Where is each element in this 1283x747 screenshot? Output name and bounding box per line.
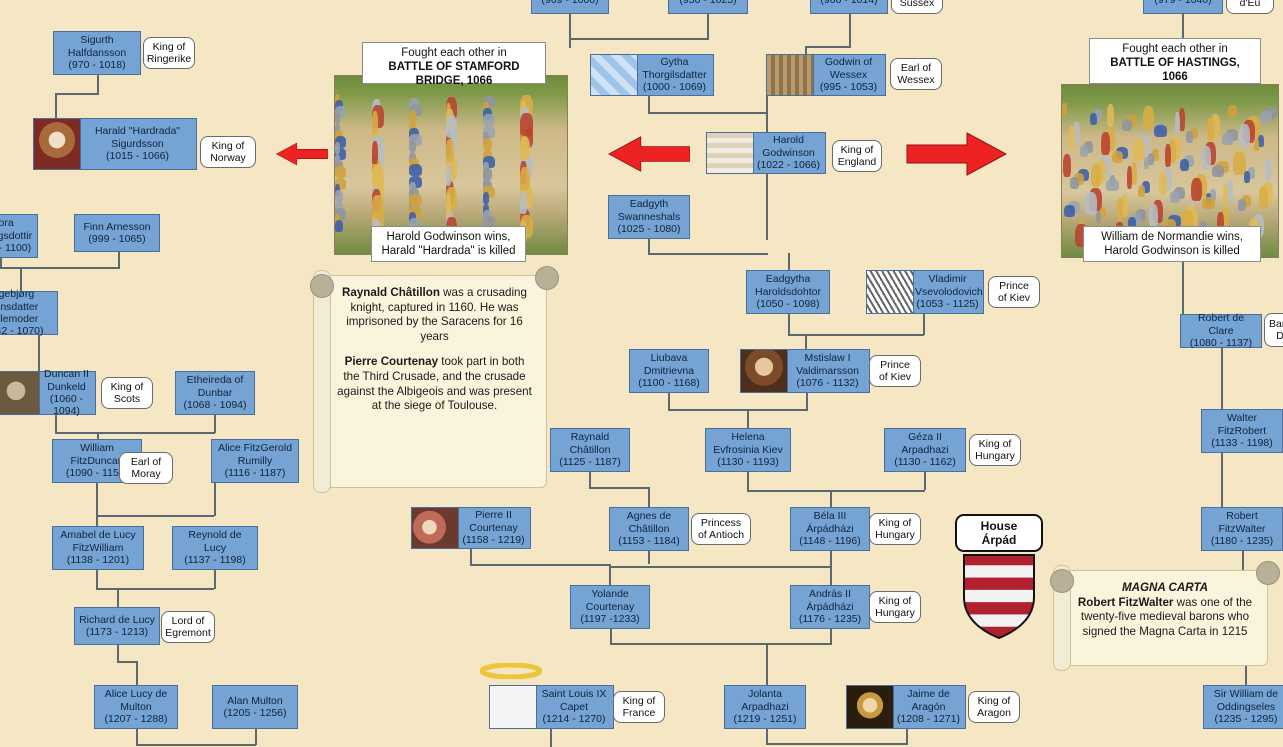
- person-name-sigurth: Sigurth Halfdansson (970 - 1018): [68, 34, 126, 71]
- portrait-mstislaw: [741, 350, 788, 392]
- connector-line: [707, 14, 709, 38]
- scroll-curl-top-left: [310, 274, 334, 298]
- portrait-louis9: [490, 686, 537, 728]
- person-box-helena[interactable]: Helena Evfrosinia Kiev (1130 - 1193): [705, 428, 791, 472]
- connector-line: [648, 239, 650, 253]
- person-name-harold: Harold Godwinson (1022 - 1066): [755, 134, 822, 171]
- title-pill-t_hungary3[interactable]: King of Hungary: [869, 591, 921, 623]
- connector-line: [830, 551, 832, 566]
- connector-line: [648, 551, 650, 564]
- connector-line: [136, 744, 256, 746]
- note-heading-magna-carta-note: MAGNA CARTA: [1077, 581, 1253, 596]
- connector-line: [589, 472, 591, 487]
- connector-line: [118, 252, 120, 268]
- person-name-alanmulton: Alan Multon (1205 - 1256): [223, 695, 286, 720]
- connector-line: [550, 729, 552, 747]
- connector-line: [214, 483, 216, 516]
- title-pill-t_deu[interactable]: d'Eu: [1226, 0, 1274, 14]
- person-box-eadgyth[interactable]: Eadgyth Swanneshals (1025 - 1080): [608, 195, 690, 239]
- person-box-p_950[interactable]: (950 - 1025): [668, 0, 748, 14]
- title-pill-t_arpad[interactable]: House Árpád: [955, 514, 1043, 552]
- connector-line: [830, 629, 832, 643]
- note-paragraph: Robert FitzWalter was one of the twenty-…: [1077, 596, 1253, 640]
- person-box-alicelucy[interactable]: Alice Lucy de Multon (1207 - 1288): [94, 685, 178, 729]
- person-box-andras2[interactable]: András II Árpádházi (1176 - 1235): [790, 585, 870, 629]
- person-name-p_960: (960 - 1014): [820, 0, 877, 6]
- person-box-p_979[interactable]: (979 - 1040): [1143, 0, 1223, 14]
- person-name-eadgytha: Eadgytha Haroldsdohtor (1050 - 1098): [755, 273, 821, 310]
- person-box-louis9[interactable]: Saint Louis IX Capet (1214 - 1270): [489, 685, 614, 729]
- portrait-jaime: [847, 686, 894, 728]
- person-box-mstislaw[interactable]: Mstislaw I Valdimarsson (1076 - 1132): [740, 349, 870, 393]
- person-box-harold[interactable]: Harold Godwinson (1022 - 1066): [706, 132, 826, 174]
- connector-line: [1182, 256, 1184, 314]
- connector-line: [648, 96, 650, 112]
- connector-line: [668, 393, 670, 409]
- person-box-bela3[interactable]: Béla III Árpádházi (1148 - 1196): [790, 507, 870, 551]
- title-pill-t_egremont[interactable]: Lord of Egremont: [161, 611, 215, 643]
- connector-line: [470, 564, 610, 566]
- battle-footer-hastings: William de Normandie wins, Harold Godwin…: [1083, 226, 1261, 262]
- connector-line: [589, 487, 649, 489]
- person-box-alanmulton[interactable]: Alan Multon (1205 - 1256): [212, 685, 298, 729]
- person-box-pierre2[interactable]: Pierre II Courtenay (1158 - 1219): [411, 507, 531, 549]
- portrait-godwin: [767, 55, 814, 95]
- connector-line: [766, 743, 908, 745]
- connector-line: [805, 334, 807, 350]
- title-pill-t_wessex[interactable]: Earl of Wessex: [890, 58, 942, 90]
- person-name-richard: Richard de Lucy (1173 - 1213): [79, 614, 155, 639]
- connector-line: [788, 253, 790, 271]
- connector-line: [648, 112, 768, 114]
- battle-header-stamford: Fought each other inBATTLE OF STAMFORD B…: [362, 42, 546, 84]
- arrow-left-icon: [608, 131, 690, 177]
- saint-halo-icon: [480, 663, 542, 679]
- connector-line: [747, 490, 831, 492]
- connector-line: [96, 483, 98, 516]
- note-crusade-note: Raynald Châtillon was a crusading knight…: [322, 275, 547, 488]
- person-name-walterfr: Walter FitzRobert (1133 - 1198): [1211, 412, 1272, 449]
- connector-line: [648, 253, 768, 255]
- connector-line: [136, 661, 138, 686]
- person-box-alice_fg[interactable]: Alice FitzGerold Rumilly (1116 - 1187): [211, 439, 299, 483]
- portrait-gytha: [591, 55, 638, 95]
- person-box-sigurth[interactable]: Sigurth Halfdansson (970 - 1018): [53, 31, 141, 75]
- connector-line: [766, 96, 768, 113]
- person-box-reynold[interactable]: Reynold de Lucy (1137 - 1198): [172, 526, 258, 570]
- connector-line: [55, 93, 99, 95]
- person-name-oddingseles: Sir William de Oddingseles (1235 - 1295): [1214, 688, 1278, 725]
- title-pill-t_scots[interactable]: King of Scots: [101, 377, 153, 409]
- connector-line: [470, 549, 472, 564]
- connector-line: [136, 729, 138, 745]
- person-name-ingebjorg: Ingebjørg Finnsdatter Jarlemoder (1042 -…: [0, 288, 54, 338]
- person-name-eadgyth: Eadgyth Swanneshals (1025 - 1080): [617, 198, 680, 235]
- person-box-amabel[interactable]: Amabel de Lucy FitzWilliam (1138 - 1201): [52, 526, 144, 570]
- title-pill-t_moray[interactable]: Earl of Moray: [119, 452, 173, 484]
- battle-header-prefix-hastings: Fought each other in: [1096, 42, 1254, 56]
- connector-line: [806, 393, 808, 410]
- connector-line: [668, 409, 808, 411]
- person-box-robertfw[interactable]: Robert FitzWalter (1180 - 1235): [1201, 507, 1283, 551]
- person-box-agnes[interactable]: Agnes de Châtillon (1153 - 1184): [609, 507, 689, 551]
- title-pill-t_kiev1[interactable]: Prince of Kiev: [988, 276, 1040, 308]
- person-name-gytha: Gytha Thorgilsdatter (1000 - 1069): [639, 56, 710, 93]
- connector-line: [924, 472, 926, 490]
- note-paragraph: Raynald Châtillon was a crusading knight…: [337, 286, 532, 344]
- person-name-alicelucy: Alice Lucy de Multon (1207 - 1288): [104, 688, 167, 725]
- person-name-robclare: Robert de Clare (1080 - 1137): [1184, 312, 1258, 349]
- person-name-duncan2: Duncan II Dunkeld (1060 - 1094): [41, 368, 92, 418]
- person-name-geza: Géza II Arpadhazi (1130 - 1162): [894, 431, 955, 468]
- title-pill-t_hungary2[interactable]: King of Hungary: [869, 513, 921, 545]
- person-name-robertfw: Robert FitzWalter (1180 - 1235): [1211, 510, 1273, 547]
- person-name-ethelreda: Etheireda of Dunbar (1068 - 1094): [183, 374, 246, 411]
- person-name-thora: Thora Torbergsdottir (1025 - 1100): [0, 217, 34, 254]
- connector-line: [96, 588, 214, 590]
- scroll-curl-top-right: [1256, 561, 1280, 585]
- person-box-p_960[interactable]: (960 - 1014): [810, 0, 888, 14]
- note-lead: Raynald Châtillon: [342, 286, 440, 299]
- connector-line: [830, 490, 832, 508]
- person-name-bela3: Béla III Árpádházi (1148 - 1196): [799, 510, 860, 547]
- person-name-jolanta: Jolanta Arpadhazi (1219 - 1251): [733, 688, 796, 725]
- battle-header-main-hastings: BATTLE OF HASTINGS, 1066: [1096, 56, 1254, 84]
- connector-line: [117, 661, 137, 663]
- person-box-ingebjorg[interactable]: Ingebjørg Finnsdatter Jarlemoder (1042 -…: [0, 291, 58, 335]
- connector-line: [38, 335, 40, 373]
- connector-line: [788, 314, 790, 334]
- connector-line: [610, 643, 766, 645]
- person-name-pierre2: Pierre II Courtenay (1158 - 1219): [460, 509, 527, 546]
- battle-footer-stamford: Harold Godwinson wins, Harald "Hardrada"…: [371, 226, 526, 262]
- connector-line: [569, 38, 709, 40]
- portrait-vladimir: [867, 271, 914, 313]
- person-name-liubava: Liubava Dmitrievna (1100 - 1168): [638, 352, 699, 389]
- person-box-vladimir[interactable]: Vladimir Vsevolodovich (1053 - 1125): [866, 270, 984, 314]
- connector-line: [255, 729, 257, 745]
- connector-line: [1221, 453, 1223, 507]
- person-name-p_969: (969 - 1000): [541, 0, 598, 6]
- connector-line: [766, 643, 832, 645]
- connector-line: [849, 14, 851, 46]
- connector-line: [766, 174, 768, 240]
- person-name-andras2: András II Árpádházi (1176 - 1235): [799, 588, 861, 625]
- connector-line: [96, 515, 214, 517]
- connector-line: [55, 93, 57, 120]
- title-pill-t_england[interactable]: King of England: [832, 140, 882, 172]
- connector-line: [788, 334, 924, 336]
- connector-line: [830, 490, 925, 492]
- person-box-liubava[interactable]: Liubava Dmitrievna (1100 - 1168): [629, 349, 709, 393]
- title-pill-t_norway[interactable]: King of Norway: [200, 136, 256, 168]
- title-pill-t_hungary1[interactable]: King of Hungary: [969, 434, 1021, 466]
- scroll-curl-top-left: [1050, 569, 1074, 593]
- connector-line: [214, 570, 216, 589]
- connector-line: [117, 645, 119, 661]
- title-pill-t_ringerike[interactable]: King of Ringerike: [143, 37, 195, 69]
- connector-line: [923, 314, 925, 335]
- person-box-robclare[interactable]: Robert de Clare (1080 - 1137): [1180, 314, 1262, 348]
- arpad-shield: [962, 553, 1036, 639]
- title-pill-t_sussex[interactable]: Sussex: [891, 0, 943, 14]
- person-name-raynald: Raynald Châtillon (1125 - 1187): [559, 431, 620, 468]
- note-paragraph: Pierre Courtenay took part in both the T…: [337, 355, 532, 413]
- title-pill-t_baron[interactable]: Baron Du: [1264, 313, 1283, 347]
- person-box-richard[interactable]: Richard de Lucy (1173 - 1213): [74, 607, 160, 645]
- scroll-curl-top-right: [535, 266, 559, 290]
- connector-line: [648, 487, 650, 508]
- connector-line: [569, 14, 571, 48]
- person-name-harald: Harald "Hardrada" Sigurdsson (1015 - 106…: [82, 125, 193, 162]
- person-box-jaime[interactable]: Jaime de Aragón (1208 - 1271): [846, 685, 966, 729]
- person-box-finn[interactable]: Finn Arnesson (999 - 1065): [74, 214, 160, 252]
- portrait-pierre2: [412, 508, 459, 548]
- person-box-ethelreda[interactable]: Etheireda of Dunbar (1068 - 1094): [175, 371, 255, 415]
- person-box-harald[interactable]: Harald "Hardrada" Sigurdsson (1015 - 106…: [33, 118, 197, 170]
- connector-line: [830, 566, 832, 586]
- portrait-harold: [707, 133, 754, 173]
- person-name-mstislaw: Mstislaw I Valdimarsson (1076 - 1132): [789, 352, 866, 389]
- connector-line: [747, 472, 749, 490]
- title-pill-t_antioch[interactable]: Princess of Antioch: [691, 513, 751, 545]
- title-pill-t_kiev2[interactable]: Prince of Kiev: [869, 355, 921, 387]
- connector-line: [55, 432, 215, 434]
- person-name-alice_fg: Alice FitzGerold Rumilly (1116 - 1187): [218, 442, 292, 479]
- title-pill-t_aragon[interactable]: King of Aragon: [968, 691, 1020, 723]
- person-box-oddingseles[interactable]: Sir William de Oddingseles (1235 - 1295): [1203, 685, 1283, 729]
- person-box-jolanta[interactable]: Jolanta Arpadhazi (1219 - 1251): [724, 685, 806, 729]
- person-name-godwin: Godwin of Wessex (995 - 1053): [815, 56, 882, 93]
- scroll-edge-left: [313, 270, 331, 493]
- connector-line: [117, 588, 119, 608]
- battle-header-hastings: Fought each other inBATTLE OF HASTINGS, …: [1089, 38, 1261, 84]
- connector-line: [1221, 348, 1223, 410]
- person-name-helena: Helena Evfrosinia Kiev (1130 - 1193): [713, 431, 782, 468]
- note-lead: Pierre Courtenay: [345, 355, 438, 368]
- battle-header-prefix-stamford: Fought each other in: [369, 46, 539, 60]
- person-box-thora[interactable]: Thora Torbergsdottir (1025 - 1100): [0, 214, 38, 258]
- person-name-p_950: (950 - 1025): [679, 0, 736, 6]
- title-pill-t_france[interactable]: King of France: [613, 691, 665, 723]
- person-box-p_969[interactable]: (969 - 1000): [531, 0, 609, 14]
- person-name-p_979: (979 - 1040): [1154, 0, 1211, 6]
- person-name-vladimir: Vladimir Vsevolodovich (1053 - 1125): [915, 273, 980, 310]
- battle-header-main-stamford: BATTLE OF STAMFORD BRIDGE, 1066: [369, 60, 539, 88]
- person-name-finn: Finn Arnesson (999 - 1065): [83, 221, 150, 246]
- portrait-duncan2: [0, 372, 40, 414]
- connector-line: [805, 46, 851, 48]
- person-box-godwin[interactable]: Godwin of Wessex (995 - 1053): [766, 54, 886, 96]
- connector-line: [610, 629, 612, 643]
- person-name-reynold: Reynold de Lucy (1137 - 1198): [184, 529, 245, 566]
- portrait-harald: [34, 119, 81, 169]
- connector-line: [766, 112, 768, 134]
- connector-line: [906, 729, 908, 744]
- connector-line: [214, 415, 216, 433]
- person-box-eadgytha[interactable]: Eadgytha Haroldsdohtor (1050 - 1098): [746, 270, 830, 314]
- person-box-yolande[interactable]: Yolande Courtenay (1197 -1233): [570, 585, 650, 629]
- connector-line: [747, 409, 749, 429]
- person-box-gytha[interactable]: Gytha Thorgilsdatter (1000 - 1069): [590, 54, 714, 96]
- person-name-louis9: Saint Louis IX Capet (1214 - 1270): [538, 688, 610, 725]
- arrow-left-2-icon: [276, 131, 328, 177]
- connector-line: [96, 570, 98, 588]
- connector-line: [97, 75, 99, 95]
- connector-line: [610, 566, 832, 568]
- connector-line: [0, 267, 120, 269]
- genealogy-canvas: (969 - 1000)(950 - 1025)(960 - 1014)(979…: [0, 0, 1283, 747]
- person-box-geza[interactable]: Géza II Arpadhazi (1130 - 1162): [884, 428, 966, 472]
- connector-line: [766, 729, 768, 743]
- person-name-agnes: Agnes de Châtillon (1153 - 1184): [618, 510, 679, 547]
- person-name-jaime: Jaime de Aragón (1208 - 1271): [895, 688, 962, 725]
- arrow-right-icon: [903, 131, 1011, 177]
- person-box-duncan2[interactable]: Duncan II Dunkeld (1060 - 1094): [0, 371, 96, 415]
- person-box-walterfr[interactable]: Walter FitzRobert (1133 - 1198): [1201, 409, 1283, 453]
- connector-line: [1182, 14, 1184, 40]
- connector-line: [766, 643, 768, 686]
- note-magna-carta-note: MAGNA CARTARobert FitzWalter was one of …: [1062, 570, 1268, 666]
- person-name-yolande: Yolande Courtenay (1197 -1233): [580, 588, 639, 625]
- person-box-raynald[interactable]: Raynald Châtillon (1125 - 1187): [550, 428, 630, 472]
- person-name-amabel: Amabel de Lucy FitzWilliam (1138 - 1201): [60, 529, 135, 566]
- note-lead: Robert FitzWalter: [1078, 596, 1174, 609]
